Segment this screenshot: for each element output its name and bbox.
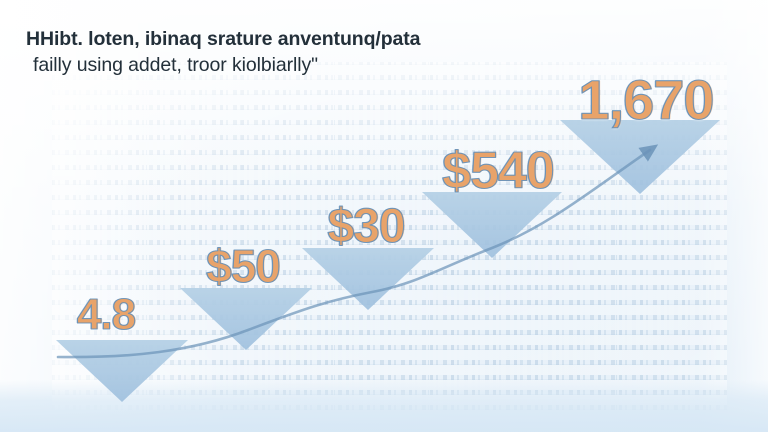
bars-group <box>56 120 720 402</box>
bar-1 <box>56 340 188 402</box>
bar-2 <box>180 288 312 350</box>
value-label-1: 4.8 <box>77 293 135 337</box>
value-label-2: $50 <box>206 243 280 289</box>
value-label-3: $30 <box>327 203 404 251</box>
chart-title-line-1: HHibt. loten, ibinaq srature anventunq/p… <box>26 26 496 52</box>
value-label-4: $540 <box>442 145 554 197</box>
chart-title: HHibt. loten, ibinaq srature anventunq/p… <box>26 26 496 78</box>
chart-image: HHibt. loten, ibinaq srature anventunq/p… <box>0 0 768 432</box>
chart-title-line-2: failly using addet, troor kiolbiarlly" <box>26 52 496 78</box>
value-label-5: 1,670 <box>578 72 713 128</box>
